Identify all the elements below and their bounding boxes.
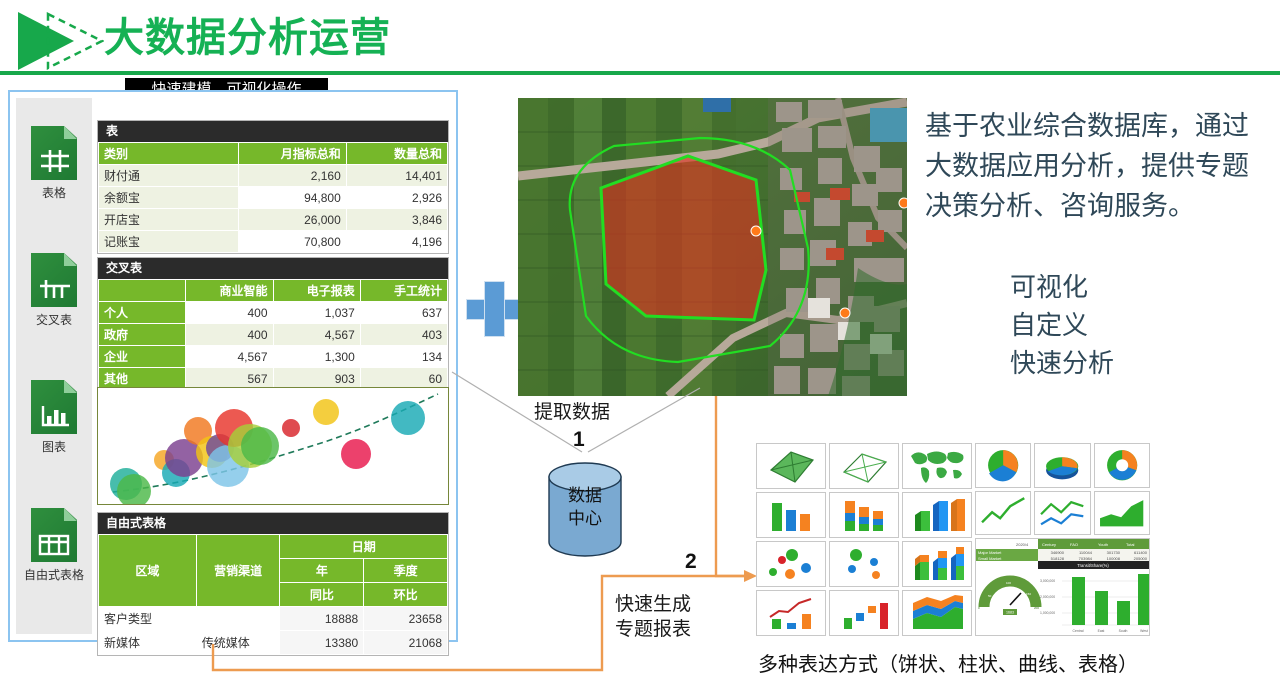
gallery-caption: 多种表达方式（饼状、柱状、曲线、表格）	[758, 648, 1178, 677]
sidebar-item-label: 图表	[16, 438, 92, 455]
cell: 1,300	[273, 346, 360, 368]
cell: 4,567	[186, 346, 273, 368]
svg-text:Transit/Share(%): Transit/Share(%)	[1077, 563, 1109, 568]
radar-filled-icon[interactable]	[756, 443, 826, 489]
chart-type-gallery: CenturyFAO YouthTotal 2020/4 Major Marke…	[756, 443, 1150, 636]
svg-text:150: 150	[1026, 592, 1031, 596]
col-header: 月指标总和	[238, 143, 346, 165]
radar-outline-icon[interactable]	[829, 443, 899, 489]
col-header	[99, 280, 186, 302]
svg-text:518128: 518128	[1051, 556, 1065, 561]
cell: 新媒体	[99, 631, 197, 655]
chart-document-icon	[31, 380, 77, 434]
col-header-yoy: 同比	[280, 583, 364, 607]
svg-text:Central: Central	[1073, 629, 1084, 633]
col-header: 类别	[99, 143, 239, 165]
bubble-point	[313, 399, 339, 425]
row-header: 企业	[99, 346, 186, 368]
svg-text:1683: 1683	[1006, 611, 1014, 615]
step2-number: 2	[685, 550, 697, 574]
table-row: 政府 400 4,567 403	[99, 324, 448, 346]
col-header: 电子报表	[273, 280, 360, 302]
cell: 开店宝	[99, 209, 239, 231]
cell: 财付通	[99, 165, 239, 187]
column-stacked-icon[interactable]	[829, 492, 899, 538]
step2-label-line1: 快速生成	[615, 589, 691, 616]
cell: 18888	[280, 607, 364, 631]
cell: 3,846	[346, 209, 447, 231]
column-clustered-icon[interactable]	[756, 492, 826, 538]
cell: 2,160	[238, 165, 346, 187]
page-header: 大数据分析运营	[0, 0, 1280, 78]
line-chart-icon[interactable]	[975, 491, 1031, 536]
keyword-item: 自定义	[1010, 306, 1230, 344]
svg-text:West: West	[1140, 629, 1148, 633]
svg-text:Century: Century	[1042, 542, 1056, 547]
cell: 1,037	[273, 302, 360, 324]
svg-text:301730: 301730	[1107, 550, 1121, 555]
database-label-line1: 数据	[546, 484, 624, 507]
table-row: 余额宝 94,800 2,926	[99, 187, 448, 209]
cell: 余额宝	[99, 187, 239, 209]
col-header: 手工统计	[360, 280, 447, 302]
table-title: 表	[98, 121, 448, 142]
svg-text:2020/4: 2020/4	[1016, 542, 1029, 547]
svg-text:205000: 205000	[1134, 556, 1148, 561]
svg-text:50: 50	[988, 594, 992, 598]
freeform-table-document-icon	[31, 508, 77, 562]
step1-label: 提取数据	[534, 397, 610, 424]
sidebar-item-label: 交叉表	[16, 311, 92, 328]
cell: 26,000	[238, 209, 346, 231]
bubble-point	[241, 427, 279, 465]
cell: 4,196	[346, 231, 447, 253]
cell: 客户类型	[99, 607, 280, 631]
cross-table: 商业智能 电子报表 手工统计 个人 400 1,037 637 政府 400 4…	[98, 279, 448, 390]
sidebar-item-label: 表格	[16, 184, 92, 201]
crosstab-document-icon	[31, 253, 77, 307]
table-row: 开店宝 26,000 3,846	[99, 209, 448, 231]
svg-text:100008: 100008	[1107, 556, 1121, 561]
cell: 23658	[364, 607, 448, 631]
description-paragraph: 基于农业综合数据库，通过大数据应用分析，提供专题决策分析、咨询服务。	[925, 106, 1275, 226]
plus-icon	[466, 281, 522, 337]
table-row: 个人 400 1,037 637	[99, 302, 448, 324]
svg-text:611400: 611400	[1134, 550, 1148, 555]
col-header-quarter: 季度	[364, 559, 448, 583]
svg-text:110044: 110044	[1079, 550, 1093, 555]
line-multi-icon[interactable]	[1034, 491, 1090, 536]
freeform-table-block: 自由式表格 区域 营销渠道 日期 年 季度 同比 环比 客户类型 18888 2…	[97, 512, 449, 656]
pie-3d-icon[interactable]	[1034, 443, 1090, 488]
dashboard-preview[interactable]: CenturyFAO YouthTotal 2020/4 Major Marke…	[975, 538, 1150, 636]
sidebar-item-freeform[interactable]: 自由式表格	[16, 508, 92, 583]
world-map-icon[interactable]	[902, 443, 972, 489]
svg-text:FAO: FAO	[1070, 542, 1078, 547]
bubble-chart-svg	[98, 388, 448, 504]
sidebar-item-table[interactable]: 表格	[16, 126, 92, 201]
svg-text:Small Market: Small Market	[978, 556, 1002, 561]
svg-text:3,000,000: 3,000,000	[1040, 579, 1055, 583]
satellite-map	[518, 98, 907, 396]
col-header-channel: 营销渠道	[196, 535, 280, 607]
doughnut-chart-icon[interactable]	[1094, 443, 1150, 488]
svg-text:1,000,000: 1,000,000	[1040, 611, 1055, 615]
svg-text:Total: Total	[1126, 542, 1135, 547]
cell: 21068	[364, 631, 448, 655]
database-label-line2: 中心	[546, 507, 624, 530]
bubble-group	[110, 399, 425, 504]
pie-chart-icon[interactable]	[975, 443, 1031, 488]
sidebar: 表格 交叉表	[16, 98, 92, 634]
svg-text:Youth: Youth	[1098, 542, 1108, 547]
table-row: 财付通 2,160 14,401	[99, 165, 448, 187]
svg-text:East: East	[1098, 629, 1105, 633]
sidebar-item-label: 自由式表格	[16, 566, 92, 583]
cell: 400	[186, 324, 273, 346]
table-row: 记账宝 70,800 4,196	[99, 231, 448, 253]
line-column-combo-icon[interactable]	[756, 590, 826, 636]
svg-text:346900: 346900	[1051, 550, 1065, 555]
table-row: 企业 4,567 1,300 134	[99, 346, 448, 368]
col-header-year: 年	[280, 559, 364, 583]
table-title: 自由式表格	[98, 513, 448, 534]
cell: 13380	[280, 631, 364, 655]
gallery-grid-left	[756, 443, 972, 636]
col-header-qoq: 环比	[364, 583, 448, 607]
scatter-plot-icon[interactable]	[829, 541, 899, 587]
column-3d-icon[interactable]	[902, 492, 972, 538]
row-header: 个人	[99, 302, 186, 324]
col-header-region: 区域	[99, 535, 197, 607]
bubble-point	[341, 439, 371, 469]
cell: 记账宝	[99, 231, 239, 253]
svg-text:703984: 703984	[1079, 556, 1093, 561]
cell: 4,567	[273, 324, 360, 346]
header-divider	[0, 71, 1280, 75]
sidebar-item-chart[interactable]: 图表	[16, 380, 92, 455]
col-header-date: 日期	[280, 535, 448, 559]
svg-text:South: South	[1119, 629, 1128, 633]
highlight-parcel	[601, 156, 766, 320]
cross-table-block: 交叉表 商业智能 电子报表 手工统计 个人 400 1,037 637 政府 4…	[97, 257, 449, 391]
area-stacked-icon[interactable]	[902, 590, 972, 636]
cell: 400	[186, 302, 273, 324]
scatter-bubble-icon[interactable]	[756, 541, 826, 587]
cell: 70,800	[238, 231, 346, 253]
simple-table-block: 表 类别 月指标总和 数量总和 财付通 2,160 14,401 余额宝 94,…	[97, 120, 449, 254]
step1-number: 1	[573, 428, 585, 452]
table-header-row: 商业智能 电子报表 手工统计	[99, 280, 448, 302]
bubble-chart	[97, 387, 449, 505]
column-stacked-3d-icon[interactable]	[902, 541, 972, 587]
svg-text:2,000,000: 2,000,000	[1040, 595, 1055, 599]
bubble-point	[282, 419, 300, 437]
play-triangle-outline-icon	[46, 12, 104, 70]
svg-text:100: 100	[1006, 581, 1011, 585]
gallery-grid-right-top	[975, 443, 1150, 535]
freeform-table: 区域 营销渠道 日期 年 季度 同比 环比 客户类型 18888 23658 新…	[98, 534, 448, 655]
step2-label-line2: 专题报表	[615, 614, 691, 641]
keyword-list: 可视化 自定义 快速分析	[1010, 268, 1230, 382]
table-title: 交叉表	[98, 258, 448, 279]
table-document-icon	[31, 126, 77, 180]
cell: 2,926	[346, 187, 447, 209]
area-chart-icon[interactable]	[1094, 491, 1150, 536]
bubble-point	[391, 401, 425, 435]
cell: 134	[360, 346, 447, 368]
col-header: 商业智能	[186, 280, 273, 302]
table-row: 客户类型 18888 23658	[99, 607, 448, 631]
cell: 403	[360, 324, 447, 346]
table-row: 新媒体 传统媒体 13380 21068	[99, 631, 448, 655]
plus-vertical-bar	[484, 281, 505, 337]
database-label: 数据 中心	[546, 484, 624, 530]
svg-text:200: 200	[1034, 606, 1039, 610]
cell: 94,800	[238, 187, 346, 209]
waterfall-icon[interactable]	[829, 590, 899, 636]
sidebar-item-crosstab[interactable]: 交叉表	[16, 253, 92, 328]
row-header: 政府	[99, 324, 186, 346]
cell: 637	[360, 302, 447, 324]
table-header-row: 区域 营销渠道 日期	[99, 535, 448, 559]
col-header: 数量总和	[346, 143, 447, 165]
cell: 传统媒体	[196, 631, 280, 655]
table-header-row: 类别 月指标总和 数量总和	[99, 143, 448, 165]
simple-table: 类别 月指标总和 数量总和 财付通 2,160 14,401 余额宝 94,80…	[98, 142, 448, 253]
keyword-item: 快速分析	[1010, 344, 1230, 382]
cell: 14,401	[346, 165, 447, 187]
page-title: 大数据分析运营	[104, 7, 391, 69]
svg-text:Major Market: Major Market	[978, 550, 1002, 555]
keyword-item: 可视化	[1010, 268, 1230, 306]
